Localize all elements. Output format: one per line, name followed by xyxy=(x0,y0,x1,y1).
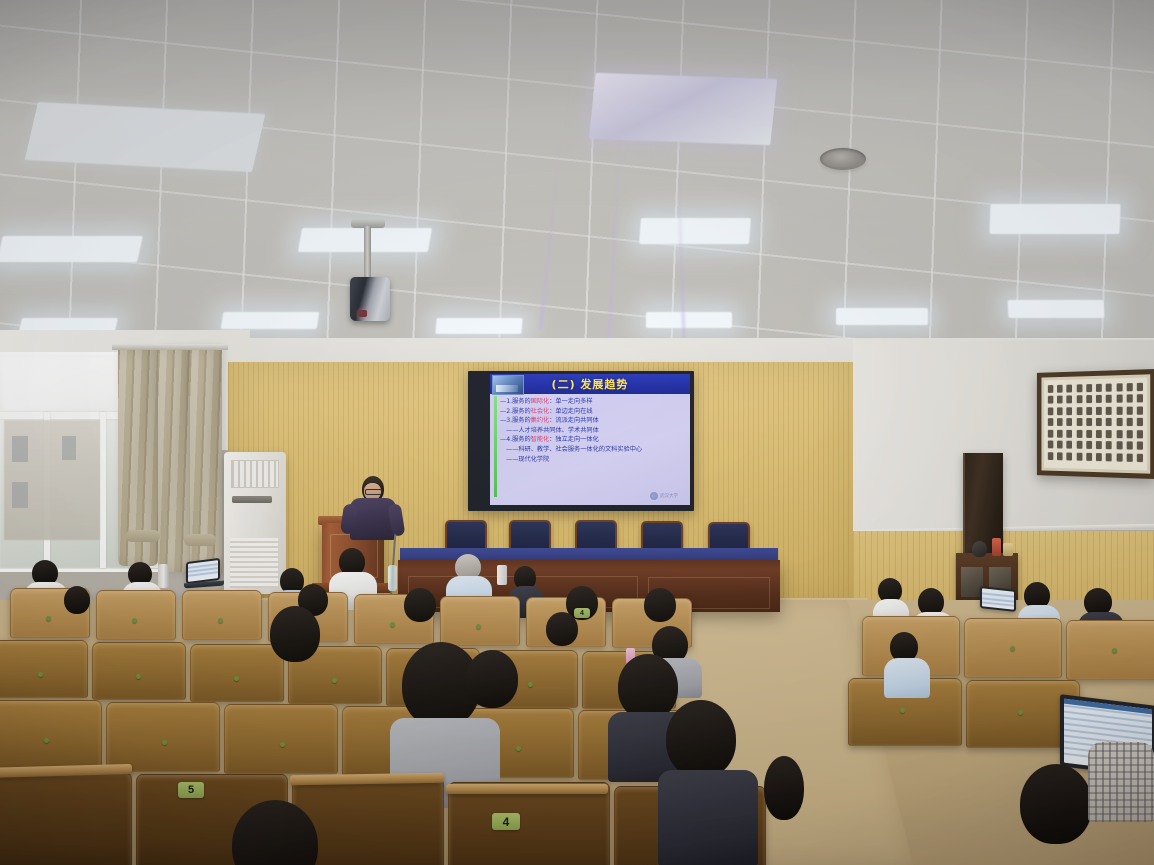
paper-cup xyxy=(497,565,507,585)
slide-body: —1.服务的国际化：单一走向多样 —2.服务的社会化：单边走向在线 —3.服务的… xyxy=(500,396,684,500)
slide-title: (二) 发展趋势 xyxy=(552,376,629,392)
auditorium-seat[interactable] xyxy=(96,590,176,640)
person-head xyxy=(764,756,804,820)
calligraphy-row xyxy=(1048,382,1144,392)
seat-stud xyxy=(528,682,533,687)
ac-display-panel xyxy=(232,496,272,503)
slide-line: —3.服务的集约化：流派走向共同体 xyxy=(500,417,684,426)
water-bottle xyxy=(388,565,397,591)
person-body xyxy=(1088,742,1154,822)
person-head xyxy=(546,612,578,646)
slide-line: —1.服务的国际化：单一走向多样 xyxy=(500,398,684,407)
seat-stud xyxy=(390,622,395,627)
ceiling-light-panel xyxy=(989,204,1120,234)
seat-stud xyxy=(1018,710,1023,715)
auditorium-seat[interactable] xyxy=(182,590,262,640)
projector-lens-icon xyxy=(358,310,367,317)
calligraphy-row xyxy=(1048,394,1144,403)
calligraphy-row xyxy=(1048,406,1144,415)
curtain-tieback[interactable] xyxy=(184,534,216,546)
person-head xyxy=(644,588,676,622)
auditorium-seat[interactable] xyxy=(0,700,102,770)
slide-watermark: 武汉大学 xyxy=(650,492,678,500)
auditorium-seat[interactable] xyxy=(190,644,284,702)
laptop-screen xyxy=(188,560,218,582)
ac-lower-grille xyxy=(230,538,278,588)
exterior-building-window xyxy=(12,436,28,462)
slide-title-bar: (二) 发展趋势 xyxy=(490,374,690,394)
exterior-building-window xyxy=(12,482,28,508)
person-head xyxy=(1020,764,1092,844)
seat-stud xyxy=(44,738,49,743)
ceiling-light-panel xyxy=(435,318,522,334)
projected-slide: (二) 发展趋势 —1.服务的国际化：单一走向多样 —2.服务的社会化：单边走向… xyxy=(490,374,690,505)
slide-line: ——现代化学院 xyxy=(500,456,684,465)
calligraphy-row xyxy=(1048,452,1144,462)
calligraphy-row xyxy=(1048,418,1144,426)
person-head xyxy=(64,586,90,614)
calligraphy-row xyxy=(1048,430,1144,439)
ceiling-light-panel xyxy=(25,102,266,172)
auditorium-seat[interactable] xyxy=(92,642,186,700)
slide-accent-bar xyxy=(494,396,497,497)
seat-stud xyxy=(332,678,337,683)
ceiling-light-panel xyxy=(836,308,928,325)
glasses-icon xyxy=(365,489,382,495)
auditorium-seat[interactable] xyxy=(224,704,338,774)
decorative-item xyxy=(1003,543,1013,556)
auditorium-seat[interactable] xyxy=(106,702,220,772)
slide-line: ——人才培养共同体、学术共同体 xyxy=(500,427,684,436)
seat-stud xyxy=(132,618,137,623)
ceiling-light-panel xyxy=(589,73,777,145)
seat-number-badge: 4 xyxy=(574,608,590,618)
seat-stud xyxy=(46,616,51,621)
seat-stud xyxy=(1112,648,1117,653)
ceiling-projector xyxy=(350,277,390,321)
window-mullion xyxy=(100,412,106,568)
decorative-vase xyxy=(972,541,987,557)
seat-number-badge: 4 xyxy=(492,813,520,830)
auditorium-seat-foreground[interactable] xyxy=(0,772,132,865)
curtain-rail xyxy=(112,344,228,350)
seat-stud xyxy=(476,624,481,629)
person-body xyxy=(884,658,930,698)
laptop-screen xyxy=(982,588,1014,609)
person-head xyxy=(666,700,736,778)
ac-vent-grille xyxy=(231,460,279,488)
seat-stud xyxy=(136,674,141,679)
seat-stud xyxy=(234,676,239,681)
seat-stud xyxy=(38,672,43,677)
seat-stud xyxy=(516,746,521,751)
seat-number-badge: 5 xyxy=(178,782,204,798)
ceiling-light-panel xyxy=(646,312,732,328)
watermark-crest-icon xyxy=(650,492,658,500)
auditorium-seat-foreground[interactable] xyxy=(448,782,610,865)
person-head xyxy=(618,654,678,720)
auditorium-seat[interactable] xyxy=(440,596,520,646)
watermark-text: 武汉大学 xyxy=(660,493,678,499)
slide-line: —4.服务的智能化：独立走向一体化 xyxy=(500,436,684,445)
person-head xyxy=(404,588,436,622)
seat-stud xyxy=(280,742,285,747)
seat-top-rail xyxy=(446,784,608,794)
seat-stud xyxy=(218,618,223,623)
ceiling-light-panel xyxy=(0,236,143,262)
seat-stud xyxy=(900,708,905,713)
slide-line: ——科研、教学、社会服务一体化的文科实验中心 xyxy=(500,446,684,455)
floor-air-conditioner xyxy=(224,452,286,594)
slide-logo-icon xyxy=(492,375,524,395)
person-head xyxy=(270,606,320,662)
exterior-building-window xyxy=(62,436,76,460)
person-body xyxy=(658,770,758,865)
ceiling-light-panel xyxy=(1008,300,1105,318)
ceiling-speaker xyxy=(820,148,866,170)
auditorium-seat[interactable] xyxy=(1066,620,1154,680)
decorative-item xyxy=(992,538,1001,556)
seat-stud xyxy=(1010,646,1015,651)
auditorium-seat[interactable] xyxy=(0,640,88,698)
calligraphy-row xyxy=(1048,441,1144,450)
framed-calligraphy-artwork xyxy=(1037,369,1154,479)
ceiling-light-panel xyxy=(639,218,751,244)
thermos-bottle xyxy=(158,564,169,588)
curtain-tieback[interactable] xyxy=(126,530,160,542)
ceiling-light-panel xyxy=(221,312,320,329)
person-head xyxy=(466,650,518,708)
seat-stud xyxy=(162,740,167,745)
lecture-hall-photo: (二) 发展趋势 —1.服务的国际化：单一走向多样 —2.服务的社会化：单边走向… xyxy=(0,0,1154,865)
slide-line: —2.服务的社会化：单边走向在线 xyxy=(500,408,684,417)
